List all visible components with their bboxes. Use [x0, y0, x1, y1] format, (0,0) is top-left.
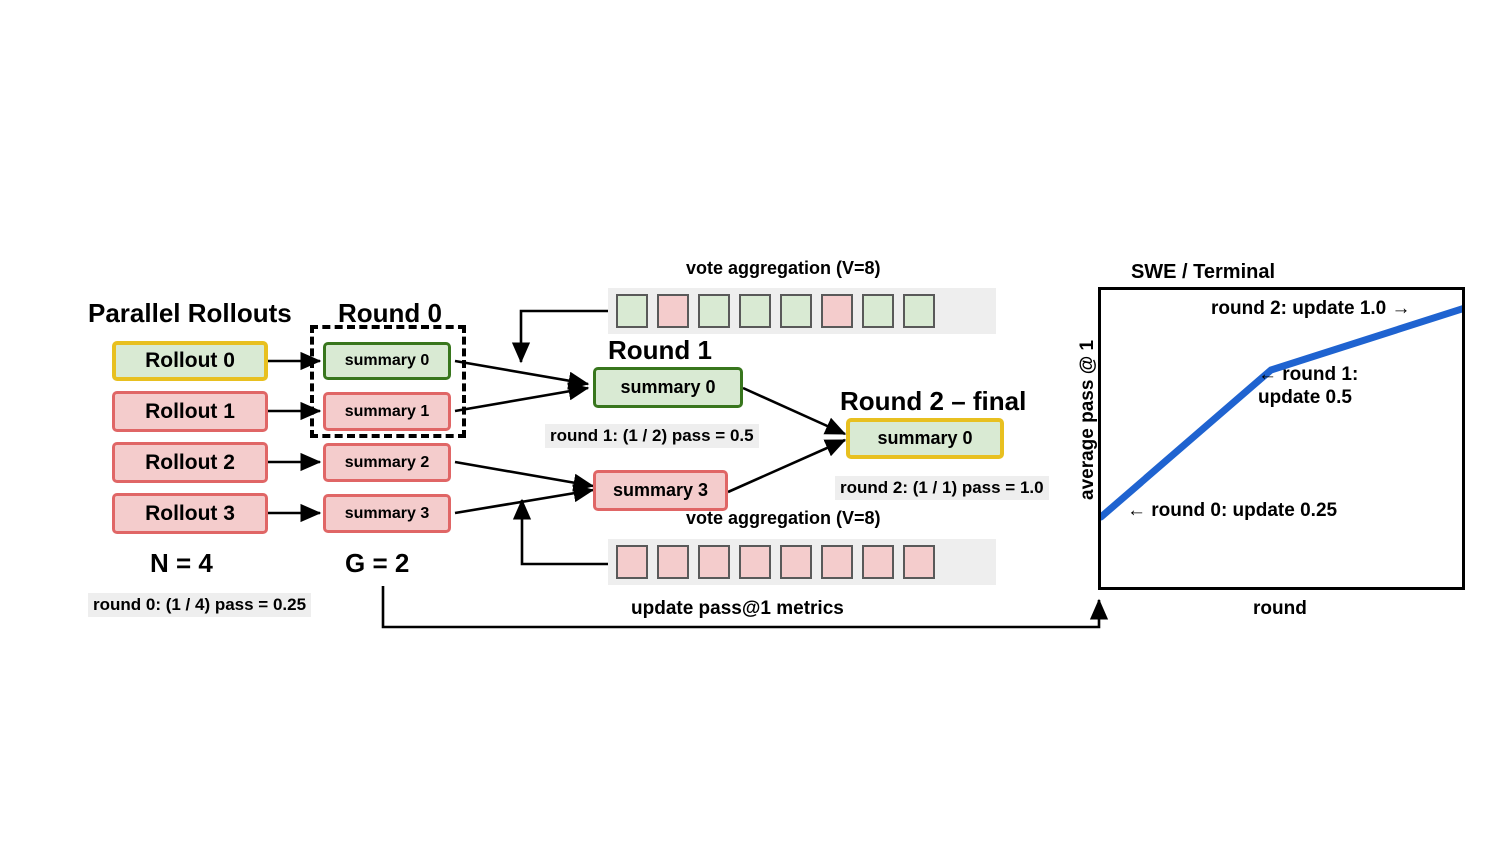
vote-aggregation-strip-top	[608, 288, 996, 334]
rollout-label: Rollout 2	[145, 451, 235, 474]
rollout-label: Rollout 1	[145, 400, 235, 423]
chart-line-svg	[1101, 290, 1462, 587]
vote-aggregation-strip-bottom	[608, 539, 996, 585]
summary-label: summary 2	[345, 454, 430, 472]
round0-summary-box-1[interactable]: summary 1	[323, 392, 451, 431]
rollout-box-3[interactable]: Rollout 3	[112, 493, 268, 534]
vote-top-cell-2	[698, 294, 730, 328]
feedback-loop-label: update pass@1 metrics	[625, 598, 850, 620]
chart-title: SWE / Terminal	[1131, 261, 1275, 284]
round1-summary-box-3[interactable]: summary 3	[593, 470, 728, 511]
vote-bottom-cell-5	[821, 545, 853, 579]
vote-bottom-cell-0	[616, 545, 648, 579]
heading-parallel-rollouts: Parallel Rollouts	[88, 298, 292, 329]
chart-annotation-round-1: ← round 1: update 0.5	[1258, 364, 1358, 410]
summary-label: summary 0	[877, 429, 972, 449]
vote-bottom-cell-6	[862, 545, 894, 579]
summary-label: summary 3	[613, 481, 708, 501]
vote-aggregation-title-bottom: vote aggregation (V=8)	[686, 508, 881, 529]
vote-top-cell-1	[657, 294, 689, 328]
vote-bottom-cell-3	[739, 545, 771, 579]
summary-label: summary 0	[620, 378, 715, 398]
metric-round-2: round 2: (1 / 1) pass = 1.0	[835, 476, 1049, 500]
vote-top-cell-7	[903, 294, 935, 328]
heading-round-2-final: Round 2 – final	[840, 386, 1026, 417]
heading-round-1: Round 1	[608, 335, 712, 366]
rollout-label: Rollout 3	[145, 502, 235, 525]
label-g-value: G = 2	[345, 548, 409, 579]
rollout-box-2[interactable]: Rollout 2	[112, 442, 268, 483]
diagram-canvas: Parallel Rollouts Round 0 Round 1 Round …	[0, 0, 1500, 844]
chart-y-axis-label: average pass @ 1	[1077, 340, 1099, 500]
round0-summary-box-2[interactable]: summary 2	[323, 443, 451, 482]
chart-annotation-round-0: ← round 0: update 0.25	[1127, 500, 1337, 523]
vote-bottom-cell-2	[698, 545, 730, 579]
label-n-value: N = 4	[150, 548, 213, 579]
vote-top-cell-6	[862, 294, 894, 328]
summary-label: summary 1	[345, 403, 430, 421]
round0-summary-box-0[interactable]: summary 0	[323, 342, 451, 380]
rollout-box-0[interactable]: Rollout 0	[112, 341, 268, 381]
vote-top-cell-0	[616, 294, 648, 328]
chart-x-axis-label: round	[1253, 598, 1307, 620]
round1-summary-box-0[interactable]: summary 0	[593, 367, 743, 408]
summary-label: summary 0	[345, 352, 430, 370]
metric-round-1: round 1: (1 / 2) pass = 0.5	[545, 424, 759, 448]
chart-plot-area	[1098, 287, 1465, 590]
metric-round-0: round 0: (1 / 4) pass = 0.25	[88, 593, 311, 617]
rollout-label: Rollout 0	[145, 349, 235, 372]
vote-bottom-cell-4	[780, 545, 812, 579]
round2-final-summary-box[interactable]: summary 0	[846, 418, 1004, 459]
vote-bottom-cell-7	[903, 545, 935, 579]
vote-bottom-cell-1	[657, 545, 689, 579]
chart-series-line	[1101, 308, 1462, 517]
summary-label: summary 3	[345, 505, 430, 523]
chart-annotation-round-2: round 2: update 1.0 →	[1211, 298, 1411, 321]
rollout-box-1[interactable]: Rollout 1	[112, 391, 268, 432]
vote-top-cell-3	[739, 294, 771, 328]
vote-aggregation-title-top: vote aggregation (V=8)	[686, 258, 881, 279]
vote-top-cell-4	[780, 294, 812, 328]
round0-summary-box-3[interactable]: summary 3	[323, 494, 451, 533]
vote-top-cell-5	[821, 294, 853, 328]
